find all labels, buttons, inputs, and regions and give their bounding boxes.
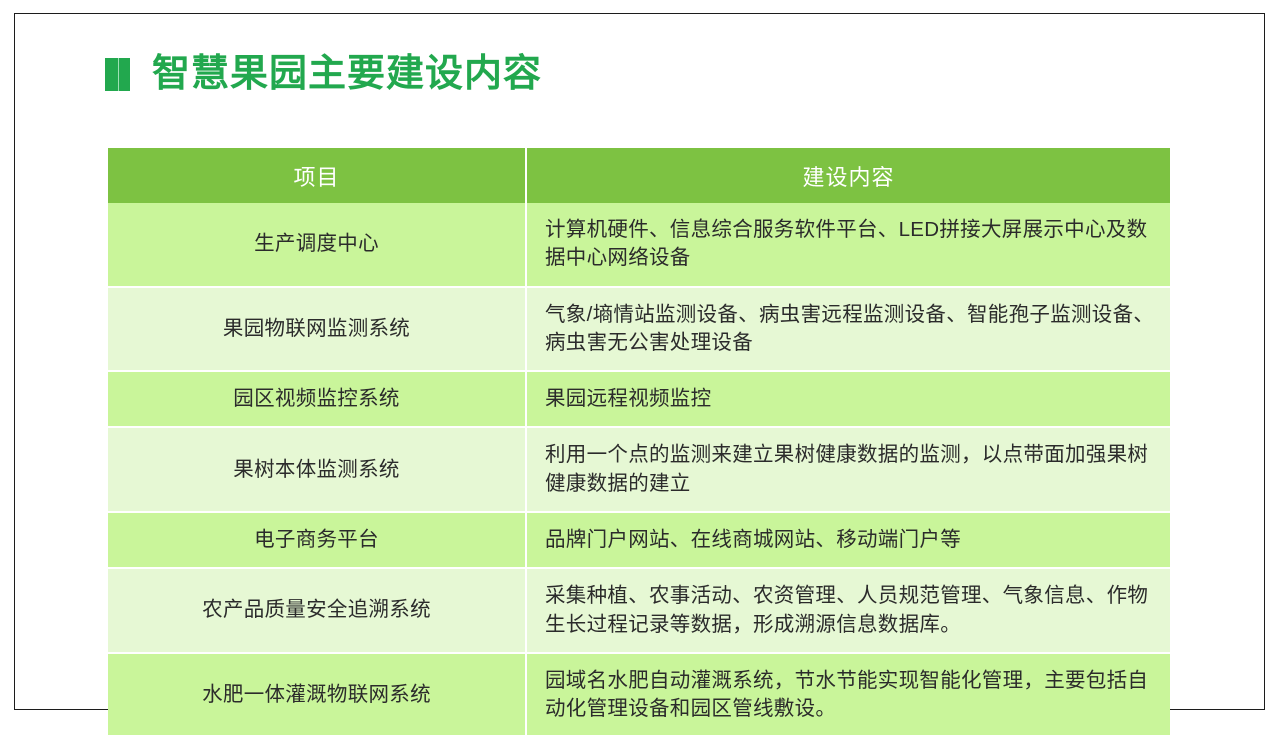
cell-detail: 采集种植、农事活动、农资管理、人员规范管理、气象信息、作物生长过程记录等数据，形… xyxy=(527,569,1170,654)
table-row: 生产调度中心 计算机硬件、信息综合服务软件平台、LED拼接大屏展示中心及数据中心… xyxy=(108,203,1170,288)
cell-item: 园区视频监控系统 xyxy=(108,372,527,428)
content-table-wrapper: 项目 建设内容 生产调度中心 计算机硬件、信息综合服务软件平台、LED拼接大屏展… xyxy=(108,148,1170,735)
table-header-row: 项目 建设内容 xyxy=(108,148,1170,203)
table-row: 果树本体监测系统 利用一个点的监测来建立果树健康数据的监测，以点带面加强果树健康… xyxy=(108,428,1170,513)
slide-title-row: 智慧果园主要建设内容 xyxy=(105,55,542,93)
table-row: 果园物联网监测系统 气象/墒情站监测设备、病虫害远程监测设备、智能孢子监测设备、… xyxy=(108,288,1170,373)
column-header-item: 项目 xyxy=(108,148,527,203)
table-row: 农产品质量安全追溯系统 采集种植、农事活动、农资管理、人员规范管理、气象信息、作… xyxy=(108,569,1170,654)
cell-item: 果园物联网监测系统 xyxy=(108,288,527,373)
cell-detail: 计算机硬件、信息综合服务软件平台、LED拼接大屏展示中心及数据中心网络设备 xyxy=(527,203,1170,288)
cell-detail: 品牌门户网站、在线商城网站、移动端门户等 xyxy=(527,513,1170,569)
table-row: 电子商务平台 品牌门户网站、在线商城网站、移动端门户等 xyxy=(108,513,1170,569)
cell-detail: 果园远程视频监控 xyxy=(527,372,1170,428)
table-row: 水肥一体灌溉物联网系统 园域名水肥自动灌溉系统，节水节能实现智能化管理，主要包括… xyxy=(108,654,1170,735)
cell-item: 电子商务平台 xyxy=(108,513,527,569)
slide-canvas: 智慧果园主要建设内容 项目 建设内容 生产调度中心 计算机硬件、信息综合服务软件… xyxy=(0,0,1280,735)
square-marker-icon xyxy=(105,58,130,91)
column-header-detail: 建设内容 xyxy=(527,148,1170,203)
content-table: 项目 建设内容 生产调度中心 计算机硬件、信息综合服务软件平台、LED拼接大屏展… xyxy=(108,148,1170,735)
cell-detail: 园域名水肥自动灌溉系统，节水节能实现智能化管理，主要包括自动化管理设备和园区管线… xyxy=(527,654,1170,735)
cell-item: 水肥一体灌溉物联网系统 xyxy=(108,654,527,735)
table-body: 生产调度中心 计算机硬件、信息综合服务软件平台、LED拼接大屏展示中心及数据中心… xyxy=(108,203,1170,735)
page-title: 智慧果园主要建设内容 xyxy=(152,55,542,93)
table-header: 项目 建设内容 xyxy=(108,148,1170,203)
cell-detail: 气象/墒情站监测设备、病虫害远程监测设备、智能孢子监测设备、病虫害无公害处理设备 xyxy=(527,288,1170,373)
cell-detail: 利用一个点的监测来建立果树健康数据的监测，以点带面加强果树健康数据的建立 xyxy=(527,428,1170,513)
cell-item: 农产品质量安全追溯系统 xyxy=(108,569,527,654)
table-row: 园区视频监控系统 果园远程视频监控 xyxy=(108,372,1170,428)
cell-item: 生产调度中心 xyxy=(108,203,527,288)
cell-item: 果树本体监测系统 xyxy=(108,428,527,513)
